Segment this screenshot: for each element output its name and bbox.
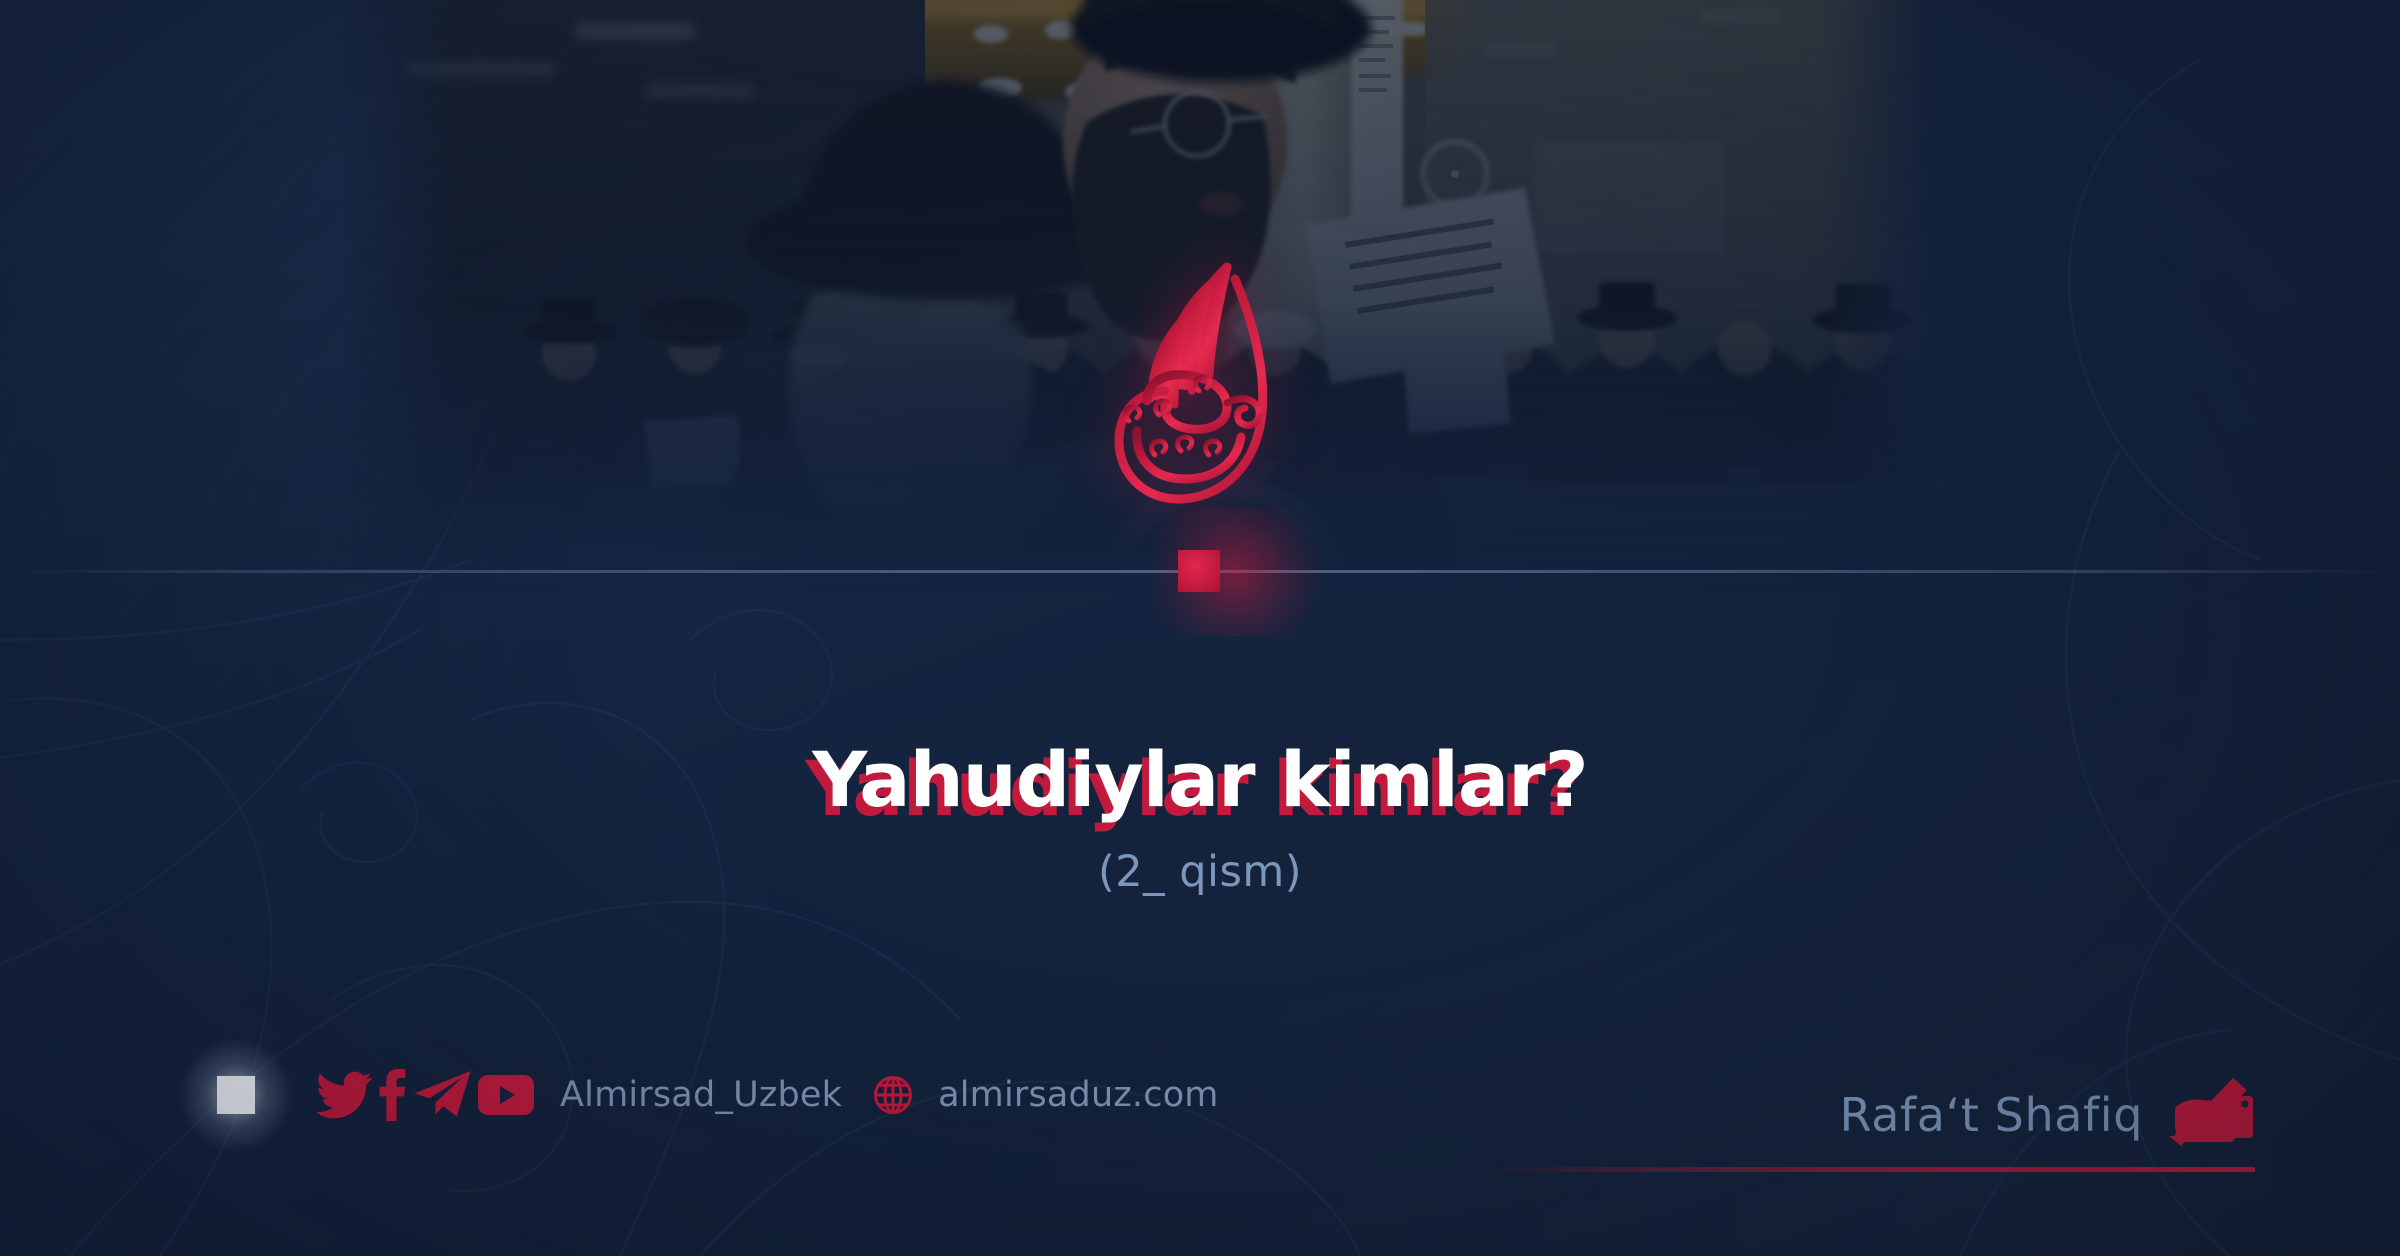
writing-hand-icon <box>2163 1074 2255 1148</box>
globe-icon <box>872 1074 914 1116</box>
red-square-glow <box>1130 508 1340 636</box>
website-link[interactable]: almirsaduz.com <box>938 1075 1219 1115</box>
page-title: Yahudiylar kimlar? <box>812 740 1588 819</box>
white-square <box>217 1076 255 1114</box>
page-subtitle: (2_ qism) <box>0 847 2400 897</box>
youtube-icon[interactable] <box>478 1074 534 1116</box>
telegram-icon[interactable] <box>414 1070 472 1120</box>
facebook-icon[interactable] <box>378 1069 408 1121</box>
footer-left: Almirsad_Uzbek almirsaduz.com <box>190 1049 1219 1141</box>
footer-right: Rafaʻt Shafiq <box>1840 1074 2255 1148</box>
twitter-icon[interactable] <box>316 1071 372 1119</box>
author-underline <box>1485 1167 2255 1172</box>
white-square-mark <box>190 1049 282 1141</box>
author-name: Rafaʻt Shafiq <box>1840 1092 2143 1148</box>
red-square-marker <box>1178 550 1220 592</box>
title-block: Yahudiylar kimlar? (2_ qism) <box>0 740 2400 897</box>
presentation-slide: Yahudiylar kimlar? (2_ qism) <box>0 0 2400 1256</box>
social-icons <box>316 1069 534 1121</box>
social-handle[interactable]: Almirsad_Uzbek <box>560 1075 842 1115</box>
arabic-calligraphy-logo <box>1085 255 1315 520</box>
